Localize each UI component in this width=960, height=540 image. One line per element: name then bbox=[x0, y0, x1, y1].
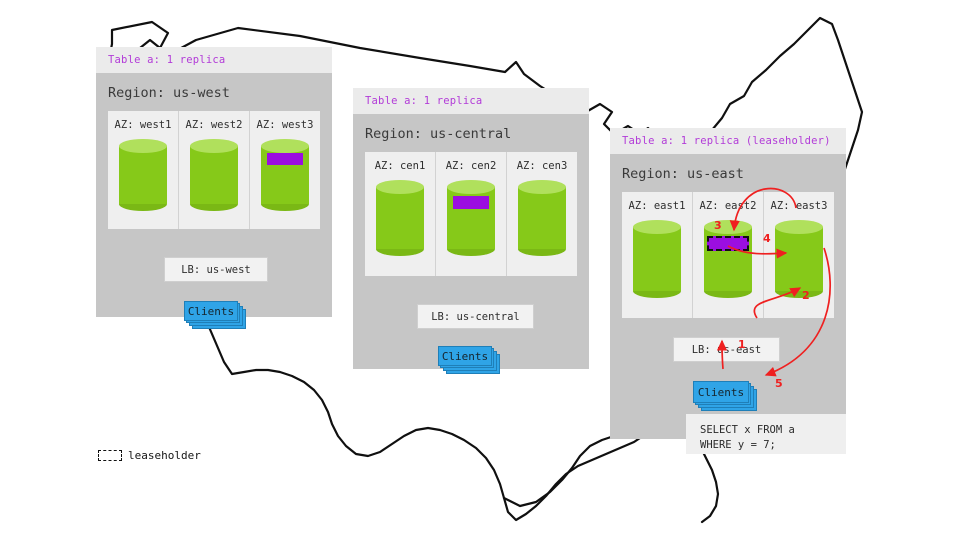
az-cell-east2[interactable]: AZ: east2 bbox=[693, 192, 764, 318]
az-label-west3: AZ: west3 bbox=[250, 119, 320, 131]
arrow-label-3: 3 bbox=[714, 219, 722, 232]
region-header-us-central: Table a: 1 replica bbox=[353, 88, 589, 114]
load-balancer-us-east[interactable]: LB: us-east bbox=[673, 337, 780, 362]
region-panel-us-east: Table a: 1 replica (leaseholder) Region:… bbox=[610, 128, 846, 439]
az-label-west1: AZ: west1 bbox=[108, 119, 178, 131]
sql-query-box: SELECT x FROM a WHERE y = 7; bbox=[686, 414, 846, 454]
az-cell-east1[interactable]: AZ: east1 bbox=[622, 192, 693, 318]
arrow-label-2: 2 bbox=[802, 289, 810, 302]
legend-leaseholder: leaseholder bbox=[98, 449, 201, 462]
node-cylinder-east3[interactable] bbox=[775, 220, 823, 298]
clients-us-central[interactable]: Clients bbox=[438, 346, 500, 374]
node-cylinder-cen3[interactable] bbox=[518, 180, 566, 256]
node-cylinder-west1[interactable] bbox=[119, 139, 167, 211]
az-cell-east3[interactable]: AZ: east3 bbox=[764, 192, 834, 318]
az-label-cen2: AZ: cen2 bbox=[436, 160, 506, 172]
node-cylinder-west3[interactable] bbox=[261, 139, 309, 211]
az-label-cen1: AZ: cen1 bbox=[365, 160, 435, 172]
az-strip-us-central: AZ: cen1 AZ: cen2 AZ: cen3 bbox=[365, 152, 577, 276]
node-cylinder-east1[interactable] bbox=[633, 220, 681, 298]
arrow-label-5: 5 bbox=[775, 377, 783, 390]
load-balancer-us-central[interactable]: LB: us-central bbox=[417, 304, 534, 329]
region-panel-us-west: Table a: 1 replica Region: us-west AZ: w… bbox=[96, 47, 332, 317]
arrow-label-1: 1 bbox=[738, 338, 746, 351]
az-cell-west3[interactable]: AZ: west3 bbox=[250, 111, 320, 229]
load-balancer-us-west[interactable]: LB: us-west bbox=[164, 257, 268, 282]
az-cell-west1[interactable]: AZ: west1 bbox=[108, 111, 179, 229]
node-cylinder-cen1[interactable] bbox=[376, 180, 424, 256]
node-cylinder-west2[interactable] bbox=[190, 139, 238, 211]
node-cylinder-east2[interactable] bbox=[704, 220, 752, 298]
az-strip-us-west: AZ: west1 AZ: west2 AZ: west3 bbox=[108, 111, 320, 229]
region-title-us-west: Region: us-west bbox=[96, 73, 332, 111]
az-cell-cen3[interactable]: AZ: cen3 bbox=[507, 152, 577, 276]
clients-label-us-east[interactable]: Clients bbox=[693, 381, 749, 403]
clients-us-east[interactable]: Clients bbox=[693, 381, 757, 411]
leaseholder-replica-marker-east2 bbox=[707, 236, 749, 251]
az-cell-west2[interactable]: AZ: west2 bbox=[179, 111, 250, 229]
region-title-us-central: Region: us-central bbox=[353, 114, 589, 152]
region-header-us-west: Table a: 1 replica bbox=[96, 47, 332, 73]
clients-label-us-west[interactable]: Clients bbox=[184, 301, 238, 321]
az-label-west2: AZ: west2 bbox=[179, 119, 249, 131]
az-label-east2: AZ: east2 bbox=[693, 200, 763, 212]
az-label-east1: AZ: east1 bbox=[622, 200, 692, 212]
region-header-us-east: Table a: 1 replica (leaseholder) bbox=[610, 128, 846, 154]
node-cylinder-cen2[interactable] bbox=[447, 180, 495, 256]
az-cell-cen2[interactable]: AZ: cen2 bbox=[436, 152, 507, 276]
dashed-rect-icon bbox=[98, 450, 122, 461]
region-title-us-east: Region: us-east bbox=[610, 154, 846, 192]
arrow-label-4: 4 bbox=[763, 232, 771, 245]
region-panel-us-central: Table a: 1 replica Region: us-central AZ… bbox=[353, 88, 589, 369]
diagram-canvas: Table a: 1 replica Region: us-west AZ: w… bbox=[0, 0, 960, 540]
az-label-east3: AZ: east3 bbox=[764, 200, 834, 212]
clients-us-west[interactable]: Clients bbox=[184, 301, 246, 329]
az-cell-cen1[interactable]: AZ: cen1 bbox=[365, 152, 436, 276]
az-label-cen3: AZ: cen3 bbox=[507, 160, 577, 172]
legend-label: leaseholder bbox=[128, 449, 201, 462]
clients-label-us-central[interactable]: Clients bbox=[438, 346, 492, 366]
replica-marker-cen2 bbox=[453, 196, 489, 209]
replica-marker-west3 bbox=[267, 153, 303, 165]
